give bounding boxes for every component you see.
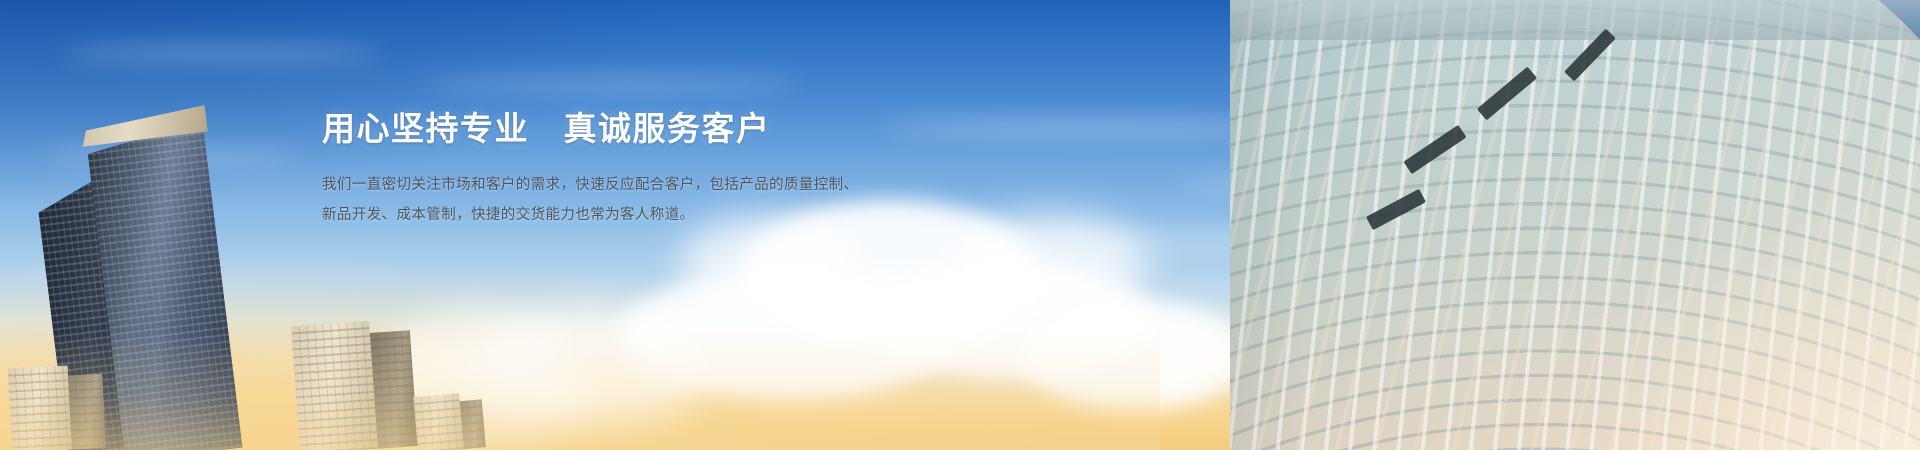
banner-copy: 用心坚持专业 真诚服务客户 我们一直密切关注市场和客户的需求，快速反应配合客户，…: [322, 108, 962, 231]
banner-headline: 用心坚持专业 真诚服务客户: [322, 108, 962, 149]
cloud-streak: [420, 78, 800, 90]
cloud-streak: [60, 46, 380, 60]
tower-sun-glow: [1570, 160, 1920, 450]
hero-banner: 用心坚持专业 真诚服务客户 我们一直密切关注市场和客户的需求，快速反应配合客户，…: [0, 0, 1920, 450]
curved-glass-tower: [1230, 0, 1920, 450]
banner-subcopy-line: 我们一直密切关注市场和客户的需求，快速反应配合客户，包括产品的质量控制、: [322, 171, 962, 201]
banner-subcopy-line: 新品开发、成本管制，快捷的交货能力也常为客人称道。: [322, 201, 962, 231]
horizon-haze: [0, 330, 1160, 450]
banner-subcopy: 我们一直密切关注市场和客户的需求，快速反应配合客户，包括产品的质量控制、 新品开…: [322, 171, 962, 230]
